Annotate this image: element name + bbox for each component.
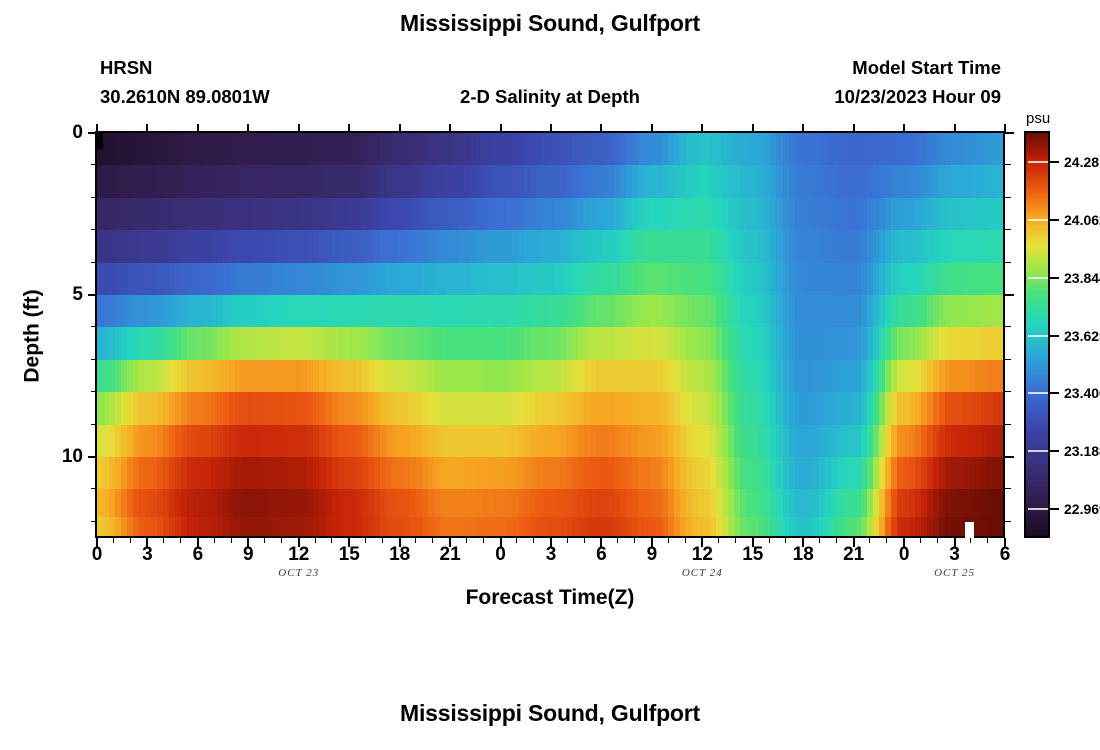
colorbar-tick <box>1050 335 1059 337</box>
colorbar-tick <box>1050 508 1059 510</box>
x-axis-minor-tick <box>315 538 316 543</box>
x-axis-minor-tick <box>466 538 467 543</box>
x-axis-minor-tick <box>785 538 786 543</box>
x-axis-minor-tick <box>533 538 534 543</box>
x-axis-minor-tick <box>869 538 870 543</box>
colorbar-tick <box>1050 219 1059 221</box>
heatmap-cell <box>999 327 1005 360</box>
heatmap-cell <box>999 457 1005 490</box>
y-axis-tick <box>88 294 97 296</box>
colorbar-tick-label: 23.188 <box>1064 443 1100 459</box>
y-axis-minor-tick-right <box>1005 359 1011 360</box>
y-axis-tick-right <box>1005 294 1014 296</box>
y-axis-tick-label: 0 <box>72 122 83 144</box>
x-axis-tick-top <box>197 124 199 133</box>
colorbar-tick-dash <box>1028 392 1048 394</box>
x-axis-minor-tick <box>769 538 770 543</box>
x-axis-tick-label: 12 <box>288 544 309 566</box>
x-axis-minor-tick <box>685 538 686 543</box>
x-axis-minor-tick <box>214 538 215 543</box>
x-axis-tick-top <box>146 124 148 133</box>
y-axis-tick-right <box>1005 456 1014 458</box>
colorbar-tick-label: 23.844 <box>1064 270 1100 286</box>
x-axis-date-label: OCT 24 <box>682 567 723 579</box>
x-axis-tick-label: 6 <box>596 544 607 566</box>
x-axis-minor-tick <box>130 538 131 543</box>
x-axis-tick-label: 3 <box>546 544 557 566</box>
colorbar-tick-label: 23.406 <box>1064 385 1100 401</box>
x-axis-tick-label: 21 <box>843 544 864 566</box>
y-axis-minor-tick-right <box>1005 488 1011 489</box>
x-axis-minor-tick <box>920 538 921 543</box>
y-axis-minor-tick-right <box>1005 262 1011 263</box>
y-axis-tick-label: 5 <box>72 284 83 306</box>
x-axis-tick-top <box>651 124 653 133</box>
x-axis-date-label: OCT 23 <box>278 567 319 579</box>
x-axis-tick-label: 9 <box>647 544 658 566</box>
y-axis-minor-tick <box>91 521 97 522</box>
missing-data-cell <box>965 522 974 538</box>
x-axis-minor-tick <box>331 538 332 543</box>
y-axis-title: Depth (ft) <box>20 133 46 538</box>
x-axis-tick-label: 21 <box>440 544 461 566</box>
y-axis-tick <box>88 132 97 134</box>
x-axis-minor-tick <box>937 538 938 543</box>
y-axis-minor-tick-right <box>1005 197 1011 198</box>
heatmap-cell <box>999 360 1005 393</box>
x-axis-minor-tick <box>180 538 181 543</box>
x-axis-minor-tick <box>718 538 719 543</box>
salinity-plot-page: Mississippi Sound, Gulfport HRSN 30.2610… <box>0 0 1100 750</box>
y-axis-minor-tick-right <box>1005 229 1011 230</box>
colorbar-tick-label: 24.062 <box>1064 212 1100 228</box>
x-axis-minor-tick <box>113 538 114 543</box>
x-axis-tick-label: 9 <box>243 544 254 566</box>
x-axis-tick-top <box>853 124 855 133</box>
x-axis-minor-tick <box>970 538 971 543</box>
x-axis-minor-tick <box>415 538 416 543</box>
colorbar-tick-dash <box>1028 335 1048 337</box>
x-axis-tick-label: 15 <box>339 544 360 566</box>
x-axis-tick-top <box>752 124 754 133</box>
heatmap-cell <box>999 489 1005 517</box>
x-axis-tick-label: 0 <box>899 544 910 566</box>
x-axis-tick-top <box>298 124 300 133</box>
heatmap-canvas <box>97 133 1005 538</box>
y-axis-minor-tick <box>91 197 97 198</box>
x-axis-minor-tick <box>163 538 164 543</box>
x-axis-tick-label: 0 <box>495 544 506 566</box>
colorbar-tick <box>1050 392 1059 394</box>
colorbar-tick-dash <box>1028 219 1048 221</box>
y-axis-minor-tick <box>91 164 97 165</box>
model-start-time-value: 10/23/2023 Hour 09 <box>834 86 1001 108</box>
x-axis-minor-tick <box>567 538 568 543</box>
x-axis-tick-top <box>449 124 451 133</box>
station-id-label: HRSN <box>100 57 152 79</box>
y-axis-minor-tick-right <box>1005 521 1011 522</box>
y-axis-minor-tick <box>91 424 97 425</box>
colorbar-tick-dash <box>1028 450 1048 452</box>
x-axis-minor-tick <box>836 538 837 543</box>
x-axis-tick-label: 3 <box>142 544 153 566</box>
colorbar-tick-label: 24.281 <box>1064 154 1100 170</box>
x-axis-minor-tick <box>735 538 736 543</box>
heatmap-cell <box>999 425 1005 458</box>
heatmap-cell <box>999 198 1005 231</box>
model-start-time-label: Model Start Time <box>852 57 1001 79</box>
x-axis-tick-top <box>399 124 401 133</box>
colorbar-tick-dash <box>1028 161 1048 163</box>
footer-title: Mississippi Sound, Gulfport <box>0 700 1100 727</box>
x-axis-tick-top <box>954 124 956 133</box>
x-axis-tick-top <box>903 124 905 133</box>
y-axis-minor-tick <box>91 359 97 360</box>
heatmap-cell <box>999 230 1005 263</box>
y-axis-minor-tick-right <box>1005 424 1011 425</box>
x-axis-minor-tick <box>281 538 282 543</box>
y-axis-minor-tick-right <box>1005 326 1011 327</box>
heatmap-cell <box>999 392 1005 425</box>
heatmap-column <box>999 133 1005 538</box>
y-axis-tick-label: 10 <box>62 446 83 468</box>
x-axis-tick-top <box>500 124 502 133</box>
x-axis-tick-top <box>550 124 552 133</box>
surface-start-marker <box>97 133 103 149</box>
x-axis-tick-label: 3 <box>949 544 960 566</box>
heatmap-cell <box>999 295 1005 328</box>
x-axis-tick-label: 15 <box>742 544 763 566</box>
x-axis-minor-tick <box>382 538 383 543</box>
x-axis-minor-tick <box>584 538 585 543</box>
x-axis-tick-top <box>701 124 703 133</box>
x-axis-tick-label: 12 <box>692 544 713 566</box>
colorbar-tick-dash <box>1028 277 1048 279</box>
y-axis-title-text: Depth (ft) <box>21 289 45 382</box>
x-axis-minor-tick <box>617 538 618 543</box>
x-axis-minor-tick <box>264 538 265 543</box>
x-axis-date-label: OCT 25 <box>934 567 975 579</box>
x-axis-minor-tick <box>432 538 433 543</box>
colorbar-unit-label: psu <box>1026 110 1050 127</box>
x-axis-tick-label: 0 <box>92 544 103 566</box>
x-axis-tick-label: 6 <box>193 544 204 566</box>
heatmap-cell <box>999 263 1005 296</box>
x-axis-tick-top <box>802 124 804 133</box>
y-axis-minor-tick <box>91 262 97 263</box>
colorbar-tick <box>1050 161 1059 163</box>
colorbar-tick <box>1050 277 1059 279</box>
x-axis-tick-label: 18 <box>793 544 814 566</box>
x-axis-minor-tick <box>987 538 988 543</box>
x-axis-minor-tick <box>231 538 232 543</box>
x-axis-tick-label: 18 <box>389 544 410 566</box>
x-axis-minor-tick <box>365 538 366 543</box>
heatmap-cell <box>999 133 1005 166</box>
page-title: Mississippi Sound, Gulfport <box>0 10 1100 37</box>
x-axis-minor-tick <box>819 538 820 543</box>
colorbar-tick-label: 23.625 <box>1064 328 1100 344</box>
x-axis-minor-tick <box>634 538 635 543</box>
x-axis-tick-top <box>348 124 350 133</box>
x-axis-tick-top <box>247 124 249 133</box>
x-axis-title: Forecast Time(Z) <box>0 586 1100 610</box>
heatmap-plot-area <box>97 133 1005 538</box>
x-axis-tick-top <box>600 124 602 133</box>
heatmap-cell <box>999 165 1005 198</box>
colorbar-tick-dash <box>1028 508 1048 510</box>
x-axis-minor-tick <box>886 538 887 543</box>
y-axis-tick-right <box>1005 132 1014 134</box>
colorbar-tick <box>1050 450 1059 452</box>
y-axis-minor-tick <box>91 488 97 489</box>
x-axis-minor-tick <box>668 538 669 543</box>
y-axis-minor-tick <box>91 229 97 230</box>
x-axis-tick-label: 6 <box>1000 544 1011 566</box>
y-axis-minor-tick-right <box>1005 391 1011 392</box>
y-axis-minor-tick-right <box>1005 164 1011 165</box>
y-axis-tick <box>88 456 97 458</box>
y-axis-minor-tick <box>91 326 97 327</box>
y-axis-minor-tick <box>91 391 97 392</box>
colorbar-tick-label: 22.969 <box>1064 501 1100 517</box>
x-axis-minor-tick <box>483 538 484 543</box>
x-axis-minor-tick <box>516 538 517 543</box>
